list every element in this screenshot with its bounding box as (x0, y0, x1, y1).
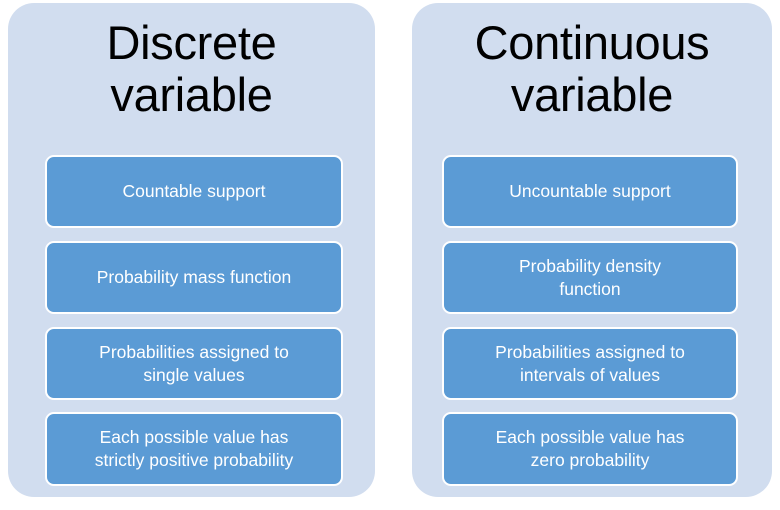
discrete-item-strictly-positive-probability: Each possible value has strictly positiv… (45, 412, 343, 486)
continuous-item-zero-probability: Each possible value has zero probability (442, 412, 738, 486)
panel-title-discrete: Discrete variable (8, 17, 375, 121)
panel-title-continuous: Continuous variable (412, 17, 772, 121)
continuous-item-probability-density-function: Probability density function (442, 241, 738, 314)
continuous-item-uncountable-support: Uncountable support (442, 155, 738, 228)
panel-continuous-variable: Continuous variable Uncountable support … (412, 3, 772, 497)
diagram-canvas: Discrete variable Countable support Prob… (0, 0, 780, 510)
panel-discrete-variable: Discrete variable Countable support Prob… (8, 3, 375, 497)
discrete-item-probabilities-single-values: Probabilities assigned to single values (45, 327, 343, 400)
discrete-item-countable-support: Countable support (45, 155, 343, 228)
continuous-item-probabilities-intervals-of-values: Probabilities assigned to intervals of v… (442, 327, 738, 400)
discrete-item-probability-mass-function: Probability mass function (45, 241, 343, 314)
